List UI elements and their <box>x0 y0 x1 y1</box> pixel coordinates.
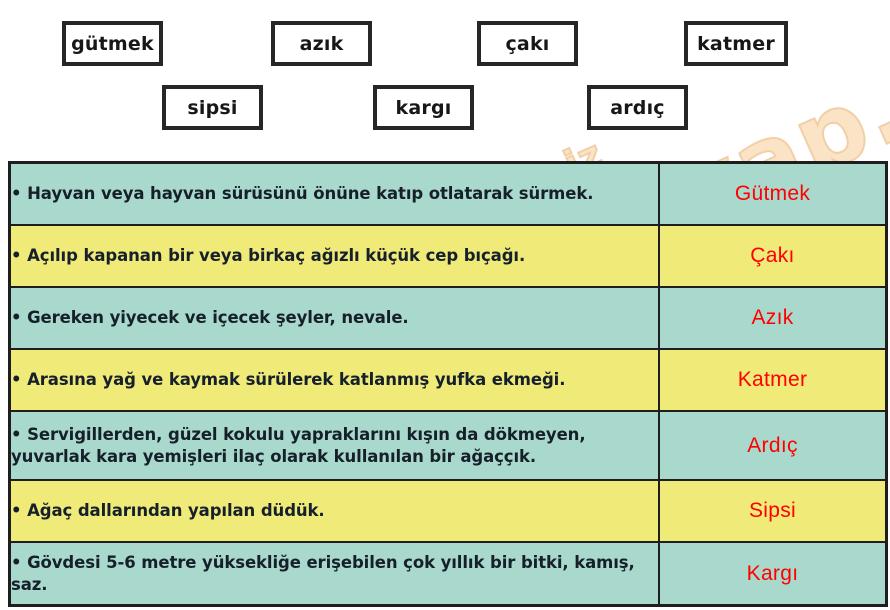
word-box-katmer[interactable]: katmer <box>684 21 788 66</box>
answer-cell[interactable]: Ardıç <box>659 411 887 480</box>
answer-cell[interactable]: Sipsi <box>659 480 887 542</box>
word-box-sipsi[interactable]: sipsi <box>162 85 263 130</box>
answer-cell[interactable]: Gütmek <box>659 163 887 226</box>
table-row: • Gövdesi 5-6 metre yüksekliğe erişebile… <box>10 542 887 606</box>
definition-cell: • Açılıp kapanan bir veya birkaç ağızlı … <box>10 225 660 287</box>
definition-cell: • Gövdesi 5-6 metre yüksekliğe erişebile… <box>10 542 660 606</box>
definition-cell: • Arasına yağ ve kaymak sürülerek katlan… <box>10 349 660 411</box>
definition-cell: • Hayvan veya hayvan sürüsünü önüne katı… <box>10 163 660 226</box>
definition-cell: • Gereken yiyecek ve içecek şeyler, neva… <box>10 287 660 349</box>
table-row: • Gereken yiyecek ve içecek şeyler, neva… <box>10 287 887 349</box>
definition-match-table: • Hayvan veya hayvan sürüsünü önüne katı… <box>8 161 888 607</box>
table-row: • Ağaç dallarından yapılan düdük.Sipsi <box>10 480 887 542</box>
answer-cell[interactable]: Katmer <box>659 349 887 411</box>
table-body: • Hayvan veya hayvan sürüsünü önüne katı… <box>10 163 887 606</box>
table-row: • Açılıp kapanan bir veya birkaç ağızlı … <box>10 225 887 287</box>
table-row: • Servigillerden, güzel kokulu yapraklar… <box>10 411 887 480</box>
word-box-kargı[interactable]: kargı <box>373 85 474 130</box>
answer-cell[interactable]: Çakı <box>659 225 887 287</box>
definition-cell: • Ağaç dallarından yapılan düdük. <box>10 480 660 542</box>
word-bank: gütmekazıkçakıkatmersipsikargıardıç <box>0 0 890 150</box>
answer-cell[interactable]: Kargı <box>659 542 887 606</box>
definition-cell: • Servigillerden, güzel kokulu yapraklar… <box>10 411 660 480</box>
word-box-çakı[interactable]: çakı <box>477 21 578 66</box>
answer-cell[interactable]: Azık <box>659 287 887 349</box>
word-box-azık[interactable]: azık <box>271 21 372 66</box>
word-box-ardıç[interactable]: ardıç <box>587 85 688 130</box>
table-row: • Arasına yağ ve kaymak sürülerek katlan… <box>10 349 887 411</box>
word-box-gütmek[interactable]: gütmek <box>62 21 163 66</box>
table-row: • Hayvan veya hayvan sürüsünü önüne katı… <box>10 163 887 226</box>
